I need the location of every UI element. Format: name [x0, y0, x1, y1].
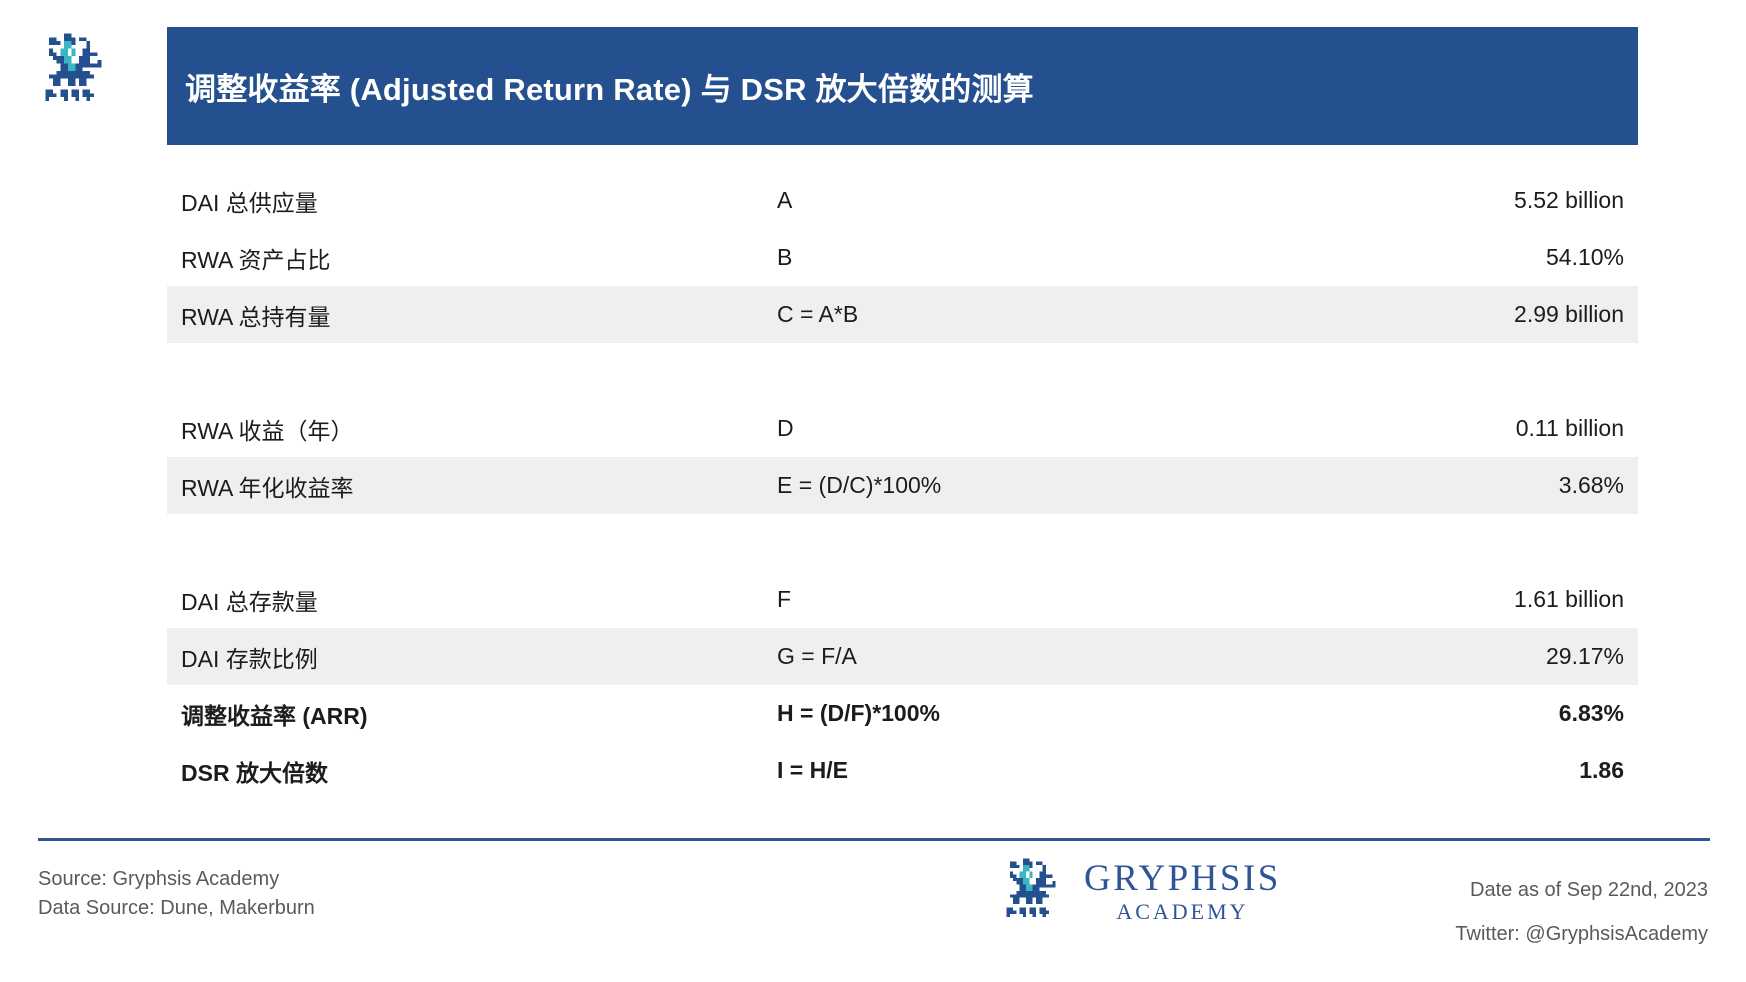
row-label: RWA 资产占比 — [167, 241, 777, 275]
table-row: RWA 总持有量C = A*B2.99 billion — [167, 286, 1638, 343]
table-row-spacer — [167, 343, 1638, 400]
row-value: 1.61 billion — [1308, 586, 1638, 613]
metrics-table: DAI 总供应量A5.52 billionRWA 资产占比B54.10%RWA … — [167, 172, 1638, 799]
brand-subtitle: ACADEMY — [1116, 901, 1248, 923]
griffin-icon — [1000, 855, 1072, 927]
row-value: 29.17% — [1308, 643, 1638, 670]
table-row-spacer — [167, 514, 1638, 571]
row-value: 0.11 billion — [1308, 415, 1638, 442]
table-row: DAI 存款比例G = F/A29.17% — [167, 628, 1638, 685]
table-row: DSR 放大倍数I = H/E1.86 — [167, 742, 1638, 799]
footer-date: Date as of Sep 22nd, 2023 — [1455, 868, 1708, 912]
row-label: DSR 放大倍数 — [167, 754, 777, 788]
gryphsis-logo-mark-top — [38, 30, 120, 112]
row-formula: D — [777, 415, 1308, 442]
footer-meta-block: Date as of Sep 22nd, 2023 Twitter: @Gryp… — [1455, 868, 1708, 956]
row-value: 5.52 billion — [1308, 187, 1638, 214]
footer-twitter: Twitter: @GryphsisAcademy — [1455, 912, 1708, 956]
header-band: 调整收益率 (Adjusted Return Rate) 与 DSR 放大倍数的… — [167, 27, 1638, 145]
row-formula: G = F/A — [777, 643, 1308, 670]
footer-source: Source: Gryphsis Academy — [38, 865, 315, 894]
row-label: RWA 收益（年） — [167, 412, 777, 446]
table-row: DAI 总存款量F1.61 billion — [167, 571, 1638, 628]
table-row: RWA 资产占比B54.10% — [167, 229, 1638, 286]
footer-brand-lockup: GRYPHSIS ACADEMY — [1000, 855, 1281, 927]
row-formula: B — [777, 244, 1308, 271]
row-value: 2.99 billion — [1308, 301, 1638, 328]
row-value: 1.86 — [1308, 757, 1638, 784]
row-formula: I = H/E — [777, 757, 1308, 784]
footer-data-source: Data Source: Dune, Makerburn — [38, 894, 315, 923]
row-label: DAI 总供应量 — [167, 184, 777, 218]
griffin-icon — [38, 30, 120, 112]
row-value: 3.68% — [1308, 472, 1638, 499]
row-label: DAI 存款比例 — [167, 640, 777, 674]
table-row: RWA 年化收益率E = (D/C)*100%3.68% — [167, 457, 1638, 514]
footer-divider — [38, 838, 1710, 841]
brand-name: GRYPHSIS — [1084, 860, 1281, 897]
row-label: RWA 总持有量 — [167, 298, 777, 332]
table-row: RWA 收益（年）D0.11 billion — [167, 400, 1638, 457]
row-formula: C = A*B — [777, 301, 1308, 328]
row-label: DAI 总存款量 — [167, 583, 777, 617]
row-formula: F — [777, 586, 1308, 613]
row-label: RWA 年化收益率 — [167, 469, 777, 503]
row-value: 6.83% — [1308, 700, 1638, 727]
row-label: 调整收益率 (ARR) — [167, 697, 777, 731]
table-row: DAI 总供应量A5.52 billion — [167, 172, 1638, 229]
page-title: 调整收益率 (Adjusted Return Rate) 与 DSR 放大倍数的… — [167, 64, 1034, 109]
row-formula: A — [777, 187, 1308, 214]
row-formula: E = (D/C)*100% — [777, 472, 1308, 499]
row-formula: H = (D/F)*100% — [777, 700, 1308, 727]
table-row: 调整收益率 (ARR)H = (D/F)*100%6.83% — [167, 685, 1638, 742]
row-value: 54.10% — [1308, 244, 1638, 271]
footer-source-block: Source: Gryphsis Academy Data Source: Du… — [38, 865, 315, 923]
brand-wordmark: GRYPHSIS ACADEMY — [1084, 860, 1281, 923]
